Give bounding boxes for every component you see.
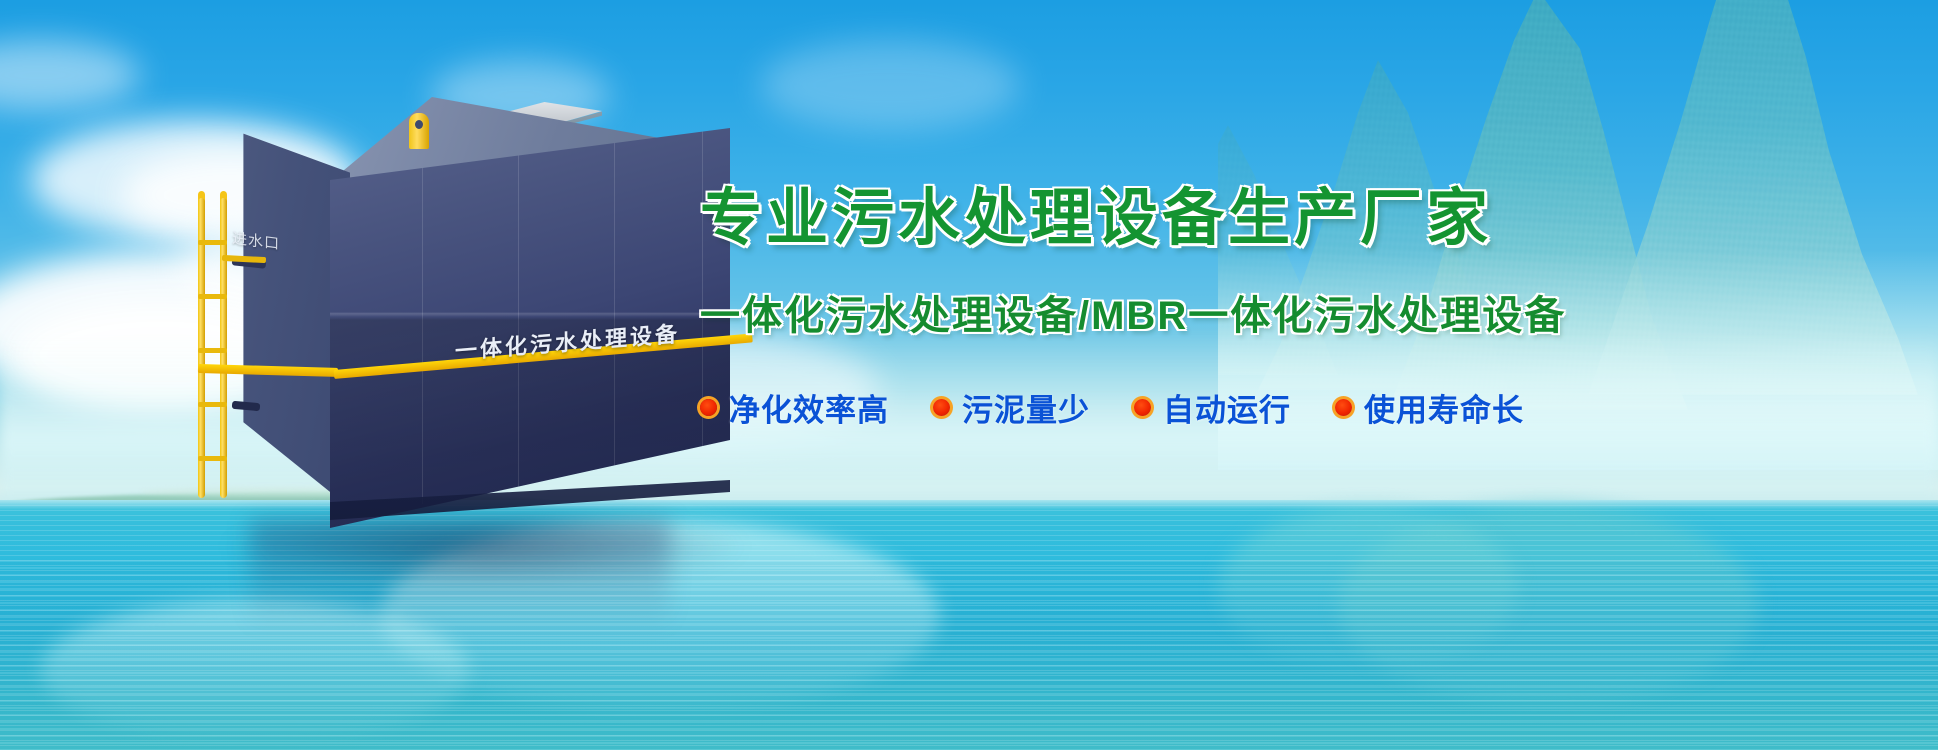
bullet-dot-icon: [933, 399, 950, 416]
wastewater-treatment-tank: 进水口 一体化污水处理设备: [170, 80, 730, 530]
subheadline-text: 一体化污水处理设备/MBR一体化污水处理设备: [700, 283, 1900, 341]
feature-item: 净化效率高: [700, 385, 889, 430]
feature-list: 净化效率高 污泥量少 自动运行 使用寿命长: [700, 385, 1900, 430]
feature-label: 污泥量少: [962, 385, 1090, 430]
feature-label: 使用寿命长: [1364, 385, 1524, 430]
feature-item: 使用寿命长: [1335, 385, 1524, 430]
cloud-icon: [760, 40, 1020, 130]
marketing-copy: 专业污水处理设备生产厂家 一体化污水处理设备/MBR一体化污水处理设备 净化效率…: [700, 185, 1900, 430]
feature-item: 污泥量少: [933, 385, 1090, 430]
headline-text: 专业污水处理设备生产厂家: [700, 185, 1900, 253]
bullet-dot-icon: [1134, 399, 1151, 416]
feature-label: 净化效率高: [729, 385, 889, 430]
feature-item: 自动运行: [1134, 385, 1291, 430]
bullet-dot-icon: [700, 399, 717, 416]
equipment-reflection: [250, 520, 670, 630]
banner-stage: 进水口 一体化污水处理设备 专业污水处理设备生产厂家 一体化污水处理设备/MBR…: [0, 0, 1938, 750]
feature-label: 自动运行: [1163, 385, 1291, 430]
lifting-lug-icon: [409, 113, 429, 149]
bullet-dot-icon: [1335, 399, 1352, 416]
handrail-icon: [198, 354, 718, 486]
